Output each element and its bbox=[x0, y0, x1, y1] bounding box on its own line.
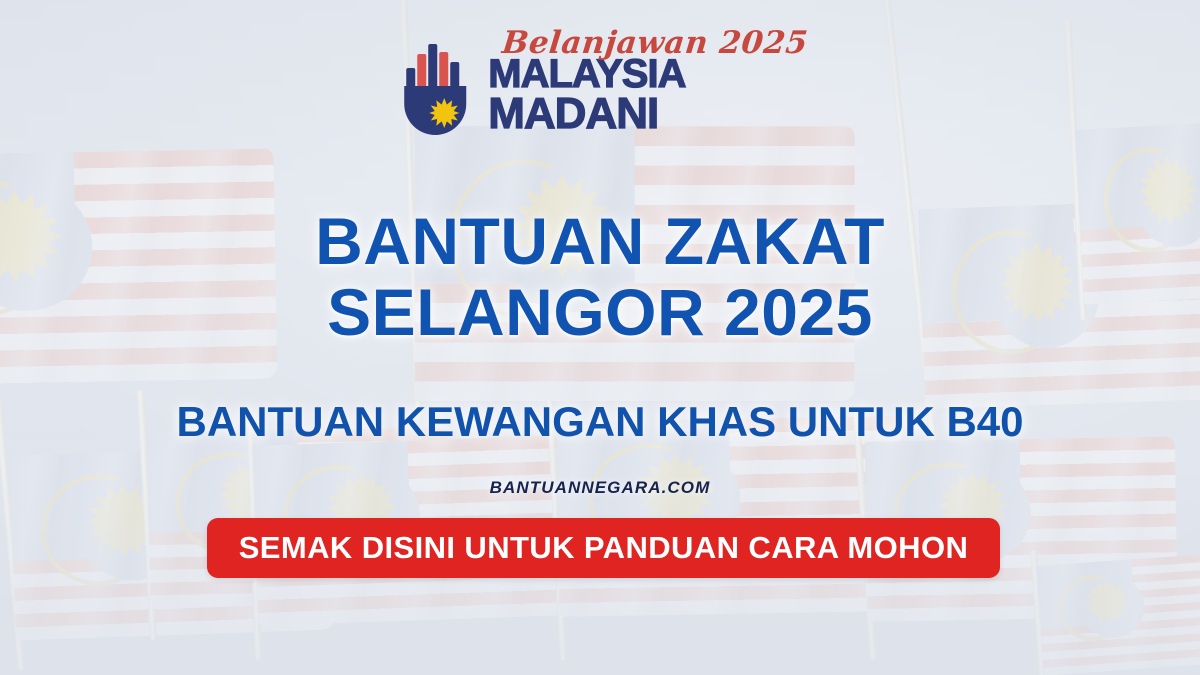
poster-canvas: Belanjawan 2025 MALAYSIA MADANI BANTUAN … bbox=[0, 0, 1200, 675]
malaysia-madani-emblem-icon bbox=[392, 30, 478, 138]
cta-button-label: SEMAK DISINI UNTUK PANDUAN CARA MOHON bbox=[239, 530, 969, 566]
belanjawan-script-text: Belanjawan 2025 bbox=[501, 28, 810, 59]
malaysia-madani-wordmark: Belanjawan 2025 MALAYSIA MADANI bbox=[488, 28, 808, 138]
malaysia-madani-logo: Belanjawan 2025 MALAYSIA MADANI bbox=[392, 28, 808, 138]
headline-line-1: BANTUAN ZAKAT bbox=[0, 206, 1200, 277]
logo-line-madani: MADANI bbox=[488, 93, 808, 135]
subheadline: BANTUAN KEWANGAN KHAS UNTUK B40 bbox=[0, 398, 1200, 446]
headline-block: BANTUAN ZAKAT SELANGOR 2025 bbox=[0, 206, 1200, 349]
site-url-text: BANTUANNEGARA.COM bbox=[0, 478, 1200, 498]
headline-line-2: SELANGOR 2025 bbox=[0, 277, 1200, 348]
poster-content: Belanjawan 2025 MALAYSIA MADANI BANTUAN … bbox=[0, 0, 1200, 675]
cta-button[interactable]: SEMAK DISINI UNTUK PANDUAN CARA MOHON bbox=[207, 518, 1000, 578]
